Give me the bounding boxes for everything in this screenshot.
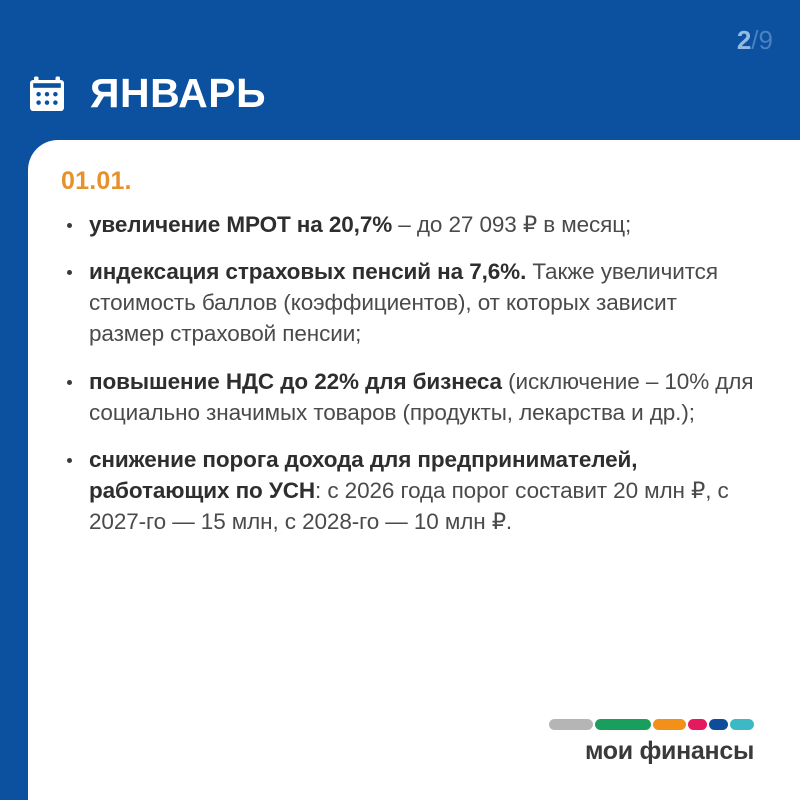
brand-logo-text: мои финансы [549,739,754,764]
list-item: повышение НДС до 22% для бизнеса (исключ… [61,367,754,429]
brand-logo-bar-gray [549,719,593,730]
brand-logo-bar-orange [653,719,686,730]
page-counter: 2/9 [737,27,773,53]
slide-root: 2/9 ЯНВАРЬ 01.01. [0,0,800,800]
page-counter-current: 2 [737,25,751,55]
brand-logo-bar-teal [730,719,754,730]
brand-logo-bar-blue [709,719,728,730]
calendar-icon [27,74,67,114]
date-label: 01.01. [61,168,754,196]
bullet-dot-icon [67,270,72,275]
brand-logo: мои финансы [549,719,754,764]
page-counter-total: 9 [759,25,773,55]
content-card: 01.01. увеличение МРОТ на 20,7% – до 27 … [28,140,800,800]
bullet-dot-icon [67,458,72,463]
list-item-bold: повышение НДС до 22% для бизнеса [89,369,502,394]
bullet-list: увеличение МРОТ на 20,7% – до 27 093 ₽ в… [61,210,754,538]
list-item: индексация страховых пенсий на 7,6%. Так… [61,257,754,349]
list-item-bold: увеличение МРОТ на 20,7% [89,212,392,237]
page-title: ЯНВАРЬ [90,73,266,114]
page-counter-separator: / [751,25,758,55]
brand-logo-bar-green [595,719,651,730]
brand-logo-bars [549,719,754,730]
list-item-bold: индексация страховых пенсий на 7,6%. [89,259,526,284]
header-headline: ЯНВАРЬ [27,73,266,114]
brand-logo-bar-magenta [688,719,707,730]
bullet-dot-icon [67,223,72,228]
bullet-dot-icon [67,380,72,385]
list-item: снижение порога дохода для предпринимате… [61,445,754,537]
content-card-inner: 01.01. увеличение МРОТ на 20,7% – до 27 … [61,168,754,538]
list-item-rest: – до 27 093 ₽ в месяц; [392,212,631,237]
list-item: увеличение МРОТ на 20,7% – до 27 093 ₽ в… [61,210,754,241]
